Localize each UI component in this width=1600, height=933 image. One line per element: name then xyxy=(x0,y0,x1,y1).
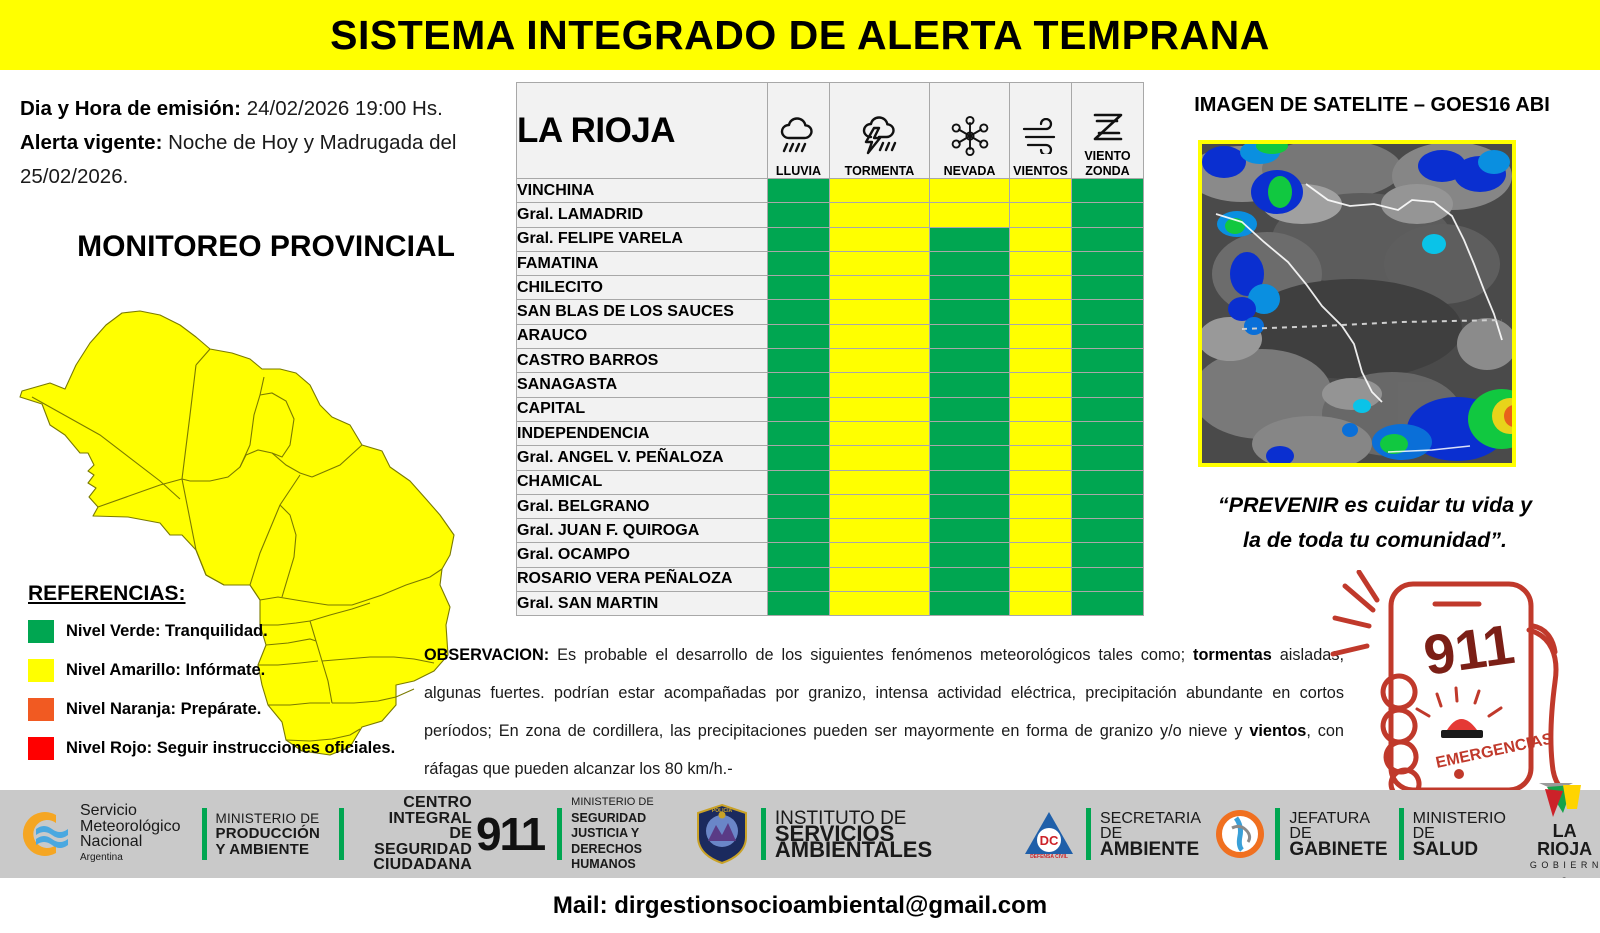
ms-line2: SALUD xyxy=(1413,842,1512,858)
alert-cell xyxy=(1010,446,1072,470)
locality-name-cell: ARAUCO xyxy=(517,324,768,348)
table-row: INDEPENDENCIA xyxy=(517,421,1144,445)
dc-badge-text: DC xyxy=(1040,833,1059,848)
alert-cell xyxy=(1010,592,1072,616)
alert-cell xyxy=(1010,227,1072,251)
prevention-quote: “PREVENIR es cuidar tu vida y la de toda… xyxy=(1150,488,1600,558)
alert-cell xyxy=(830,397,930,421)
locality-name-cell: CHAMICAL xyxy=(517,470,768,494)
page-title: SISTEMA INTEGRADO DE ALERTA TEMPRANA xyxy=(330,12,1270,59)
defensa-civil-icon: DC DEFENSA CIVIL xyxy=(1021,806,1077,862)
snowflake-icon xyxy=(930,109,1009,163)
alert-cell xyxy=(1010,494,1072,518)
table-row: SANAGASTA xyxy=(517,373,1144,397)
smn-line2: Meteorológico xyxy=(80,819,181,835)
alert-cell xyxy=(930,543,1010,567)
alert-cell xyxy=(930,276,1010,300)
locality-name-cell: SAN BLAS DE LOS SAUCES xyxy=(517,300,768,324)
logo-ministerio-seguridad-justicia: MINISTERIO DE SEGURIDAD JUSTICIA Y DEREC… xyxy=(550,799,686,869)
contact-mail: Mail: dirgestionsocioambiental@gmail.com xyxy=(553,892,1047,920)
svg-text:POLICIA: POLICIA xyxy=(712,808,733,814)
locality-name-cell: Gral. BELGRANO xyxy=(517,494,768,518)
locality-name-cell: CHILECITO xyxy=(517,276,768,300)
locality-name-cell: Gral. LAMADRID xyxy=(517,203,768,227)
alert-cell xyxy=(930,324,1010,348)
alert-validity-line2: 25/02/2026. xyxy=(20,160,510,194)
column-label-zonda: ZONDA xyxy=(1072,163,1143,178)
alert-cell xyxy=(1010,397,1072,421)
legend-swatch-amarillo xyxy=(28,659,54,682)
legend-swatch-naranja xyxy=(28,698,54,721)
cis-line1: CENTRO INTEGRAL xyxy=(353,795,472,826)
table-row: ARAUCO xyxy=(517,324,1144,348)
alert-cell xyxy=(930,227,1010,251)
divider-bar-3 xyxy=(557,808,562,860)
logo-ministerio-salud: MINISTERIO DE SALUD xyxy=(1392,799,1512,869)
logo-defensa-civil: DC DEFENSA CIVIL xyxy=(1021,799,1077,869)
legend-label-amarillo: Nivel Amarillo: Infórmate. xyxy=(66,661,265,680)
cis-line2: DE SEGURIDAD xyxy=(353,826,472,857)
alert-cell xyxy=(830,373,930,397)
ms-line1: MINISTERIO DE xyxy=(1413,811,1512,842)
alert-cell xyxy=(1010,349,1072,373)
alert-cell xyxy=(1010,251,1072,275)
table-row: ROSARIO VERA PEÑALOZA xyxy=(517,567,1144,591)
alert-cell xyxy=(1010,373,1072,397)
alert-matrix-table: LA RIOJA LLUVIA xyxy=(516,82,1144,616)
alert-cell xyxy=(930,421,1010,445)
alert-cell xyxy=(1072,179,1144,203)
alert-cell xyxy=(830,276,930,300)
alert-cell xyxy=(1010,543,1072,567)
logo-secretaria-ambiente: SECRETARIA DE AMBIENTE xyxy=(1079,799,1204,869)
locality-name-cell: CAPITAL xyxy=(517,397,768,421)
alert-cell xyxy=(930,373,1010,397)
table-row: CHILECITO xyxy=(517,276,1144,300)
alert-cell xyxy=(1010,300,1072,324)
table-row: SAN BLAS DE LOS SAUCES xyxy=(517,300,1144,324)
locality-name-cell: FAMATINA xyxy=(517,251,768,275)
emergency-911-graphic: 911 EMERGENCIAS xyxy=(1329,570,1600,800)
column-header-lluvia: LLUVIA xyxy=(768,83,830,179)
alert-cell xyxy=(768,203,830,227)
alert-cell xyxy=(768,421,830,445)
divider-bar-6 xyxy=(1275,808,1280,860)
alert-cell xyxy=(1072,300,1144,324)
locality-name-cell: Gral. JUAN F. QUIROGA xyxy=(517,519,768,543)
column-label-vientos: VIENTOS xyxy=(1010,163,1071,178)
emission-datetime-line: Dia y Hora de emisión: 24/02/2026 19:00 … xyxy=(20,92,510,126)
alert-cell xyxy=(768,470,830,494)
alert-validity-value: Noche de Hoy y Madrugada del xyxy=(168,131,456,154)
mail-bar: Mail: dirgestionsocioambiental@gmail.com xyxy=(0,878,1600,933)
emission-info: Dia y Hora de emisión: 24/02/2026 19:00 … xyxy=(20,92,510,194)
logo-gobierno-seal xyxy=(1214,799,1266,869)
alert-cell xyxy=(768,494,830,518)
quote-line-1: “PREVENIR es cuidar tu vida y xyxy=(1150,488,1600,523)
table-row: Gral. ANGEL V. PEÑALOZA xyxy=(517,446,1144,470)
divider-bar-1 xyxy=(202,808,207,860)
table-row: CHAMICAL xyxy=(517,470,1144,494)
alert-cell xyxy=(768,446,830,470)
cis-911-number: 911 xyxy=(476,811,544,857)
mpa-line2: PRODUCCIÓN xyxy=(216,826,321,842)
msj-line2: SEGURIDAD xyxy=(571,811,686,827)
alert-cell xyxy=(930,300,1010,324)
alert-poster: SISTEMA INTEGRADO DE ALERTA TEMPRANA Dia… xyxy=(0,0,1600,933)
lrg-line1: LA RIOJA xyxy=(1529,822,1600,858)
alert-cell xyxy=(768,324,830,348)
alert-cell xyxy=(768,373,830,397)
table-row: Gral. BELGRANO xyxy=(517,494,1144,518)
msj-line3: JUSTICIA Y xyxy=(571,826,686,842)
alert-cell xyxy=(930,567,1010,591)
alert-cell xyxy=(1010,567,1072,591)
alert-cell xyxy=(930,519,1010,543)
logo-servicio-meteorologico-nacional: Servicio Meteorológico Nacional Argentin… xyxy=(16,799,181,869)
table-row: Gral. OCAMPO xyxy=(517,543,1144,567)
locality-name-cell: CASTRO BARROS xyxy=(517,349,768,373)
logo-ministerio-produccion-ambiente: MINISTERIO DE PRODUCCIÓN Y AMBIENTE xyxy=(195,799,321,869)
province-header-cell: LA RIOJA xyxy=(517,83,768,179)
emergency-number-text: 911 xyxy=(1420,612,1518,687)
alert-cell xyxy=(930,470,1010,494)
alert-table-area: LA RIOJA LLUVIA xyxy=(516,82,1144,616)
table-row: VINCHINA xyxy=(517,179,1144,203)
alert-cell xyxy=(830,349,930,373)
alert-cell xyxy=(830,421,930,445)
alert-cell xyxy=(830,446,930,470)
la-rioja-flag-icon xyxy=(1533,779,1597,821)
jg-line1: JEFATURA DE xyxy=(1289,811,1387,842)
referencias-legend: REFERENCIAS: Nivel Verde: Tranquilidad. … xyxy=(28,582,428,776)
alert-cell xyxy=(1010,519,1072,543)
logo-centro-integral-seguridad: CENTRO INTEGRAL DE SEGURIDAD CIUDADANA 9… xyxy=(332,799,544,869)
alert-cell xyxy=(930,251,1010,275)
jg-line2: GABINETE xyxy=(1289,842,1387,858)
locality-name-cell: ROSARIO VERA PEÑALOZA xyxy=(517,567,768,591)
locality-name-cell: Gral. SAN MARTIN xyxy=(517,592,768,616)
table-row: FAMATINA xyxy=(517,251,1144,275)
alert-cell xyxy=(830,179,930,203)
alert-cell xyxy=(1010,324,1072,348)
alert-cell xyxy=(1072,324,1144,348)
observacion-label: OBSERVACION: xyxy=(424,646,549,664)
alert-cell xyxy=(1072,470,1144,494)
table-header-row: LA RIOJA LLUVIA xyxy=(517,83,1144,179)
sa-line2: AMBIENTE xyxy=(1100,842,1204,858)
alert-cell xyxy=(830,300,930,324)
legend-label-naranja: Nivel Naranja: Prepárate. xyxy=(66,700,261,719)
observacion-t1: Es probable el desarrollo de los siguien… xyxy=(549,646,1193,664)
alert-cell xyxy=(830,251,930,275)
alert-cell xyxy=(768,567,830,591)
alert-cell xyxy=(1010,470,1072,494)
divider-bar-2 xyxy=(339,808,344,860)
header-band: SISTEMA INTEGRADO DE ALERTA TEMPRANA xyxy=(0,0,1600,70)
table-row: CASTRO BARROS xyxy=(517,349,1144,373)
monitoreo-provincial-title: MONITOREO PROVINCIAL xyxy=(36,230,496,264)
alert-cell xyxy=(768,179,830,203)
alert-cell xyxy=(1010,203,1072,227)
alert-cell xyxy=(768,592,830,616)
gobierno-seal-icon xyxy=(1214,808,1266,860)
legend-label-verde: Nivel Verde: Tranquilidad. xyxy=(66,622,268,641)
legend-label-rojo: Nivel Rojo: Seguir instrucciones oficial… xyxy=(66,739,395,758)
alert-cell xyxy=(768,397,830,421)
quote-line-2: la de toda tu comunidad”. xyxy=(1150,523,1600,558)
smn-line3: Nacional xyxy=(80,834,181,850)
mpa-line3: Y AMBIENTE xyxy=(216,842,321,858)
alert-cell xyxy=(1072,446,1144,470)
column-label-lluvia: LLUVIA xyxy=(768,163,829,178)
alert-cell xyxy=(930,179,1010,203)
divider-bar-4 xyxy=(761,808,766,860)
divider-bar-7 xyxy=(1399,808,1404,860)
locality-name-cell: Gral. ANGEL V. PEÑALOZA xyxy=(517,446,768,470)
alert-cell xyxy=(830,543,930,567)
alert-cell xyxy=(1072,519,1144,543)
column-header-viento-zonda: VIENTO ZONDA xyxy=(1072,83,1144,179)
alert-cell xyxy=(830,470,930,494)
legend-item-rojo: Nivel Rojo: Seguir instrucciones oficial… xyxy=(28,737,428,760)
alert-cell xyxy=(1072,373,1144,397)
alert-cell xyxy=(1072,251,1144,275)
alert-cell xyxy=(1072,227,1144,251)
alert-cell xyxy=(1072,543,1144,567)
msj-line4: DERECHOS HUMANOS xyxy=(571,842,686,873)
column-label-tormenta: TORMENTA xyxy=(830,163,929,178)
smn-logo-icon xyxy=(16,805,74,863)
locality-name-cell: SANAGASTA xyxy=(517,373,768,397)
satellite-title: IMAGEN DE SATELITE – GOES16 ABI xyxy=(1144,94,1600,117)
smn-line4: Argentina xyxy=(80,850,181,866)
alert-table-body: VINCHINAGral. LAMADRIDGral. FELIPE VAREL… xyxy=(517,179,1144,616)
alert-cell xyxy=(930,349,1010,373)
logo-instituto-servicios-ambientales: INSTITUTO DE SERVICIOS AMBIENTALES xyxy=(754,799,1011,869)
alert-cell xyxy=(768,300,830,324)
msj-line1: MINISTERIO DE xyxy=(571,795,686,811)
alert-cell xyxy=(768,543,830,567)
alert-cell xyxy=(768,349,830,373)
table-row: Gral. JUAN F. QUIROGA xyxy=(517,519,1144,543)
logo-policia-la-rioja: POLICIA xyxy=(694,799,750,869)
alert-cell xyxy=(830,324,930,348)
alert-cell xyxy=(930,494,1010,518)
legend-item-amarillo: Nivel Amarillo: Infórmate. xyxy=(28,659,428,682)
satellite-image xyxy=(1198,140,1516,467)
footer-logo-band: Servicio Meteorológico Nacional Argentin… xyxy=(0,790,1600,878)
locality-name-cell: INDEPENDENCIA xyxy=(517,421,768,445)
alert-cell xyxy=(930,203,1010,227)
divider-bar-5 xyxy=(1086,808,1091,860)
isa-line2: SERVICIOS AMBIENTALES xyxy=(775,826,1011,857)
legend-swatch-rojo xyxy=(28,737,54,760)
column-label-viento: VIENTO xyxy=(1072,148,1143,163)
sa-line1: SECRETARIA DE xyxy=(1100,811,1204,842)
logo-la-rioja-gobierno: LA RIOJA G O B I E R N O xyxy=(1529,799,1600,869)
table-row: Gral. LAMADRID xyxy=(517,203,1144,227)
alert-cell xyxy=(1072,421,1144,445)
referencias-title: REFERENCIAS: xyxy=(28,582,186,606)
column-label-nevada: NEVADA xyxy=(930,163,1009,178)
alert-validity-label: Alerta vigente: xyxy=(20,131,162,154)
alert-cell xyxy=(1072,349,1144,373)
alert-cell xyxy=(768,227,830,251)
alert-cell xyxy=(830,592,930,616)
smn-line1: Servicio xyxy=(80,803,181,819)
alert-cell xyxy=(1072,592,1144,616)
dc-sub1: DEFENSA CIVIL xyxy=(1030,854,1068,860)
alert-cell xyxy=(1072,567,1144,591)
locality-name-cell: Gral. OCAMPO xyxy=(517,543,768,567)
wind-icon xyxy=(1010,109,1071,163)
alert-cell xyxy=(830,567,930,591)
legend-item-verde: Nivel Verde: Tranquilidad. xyxy=(28,620,428,643)
alert-cell xyxy=(830,203,930,227)
alert-cell xyxy=(1072,494,1144,518)
alert-cell xyxy=(1010,179,1072,203)
zonda-wind-icon xyxy=(1072,108,1143,148)
alert-cell xyxy=(1072,397,1144,421)
right-column: IMAGEN DE SATELITE – GOES16 ABI xyxy=(1144,70,1600,790)
alert-cell xyxy=(1010,276,1072,300)
alert-cell xyxy=(930,592,1010,616)
alert-cell xyxy=(830,519,930,543)
locality-name-cell: Gral. FELIPE VARELA xyxy=(517,227,768,251)
alert-cell xyxy=(930,446,1010,470)
column-header-tormenta: TORMENTA xyxy=(830,83,930,179)
legend-swatch-verde xyxy=(28,620,54,643)
cis-line3: CIUDADANA xyxy=(353,857,472,873)
logo-jefatura-gabinete: JEFATURA DE GABINETE xyxy=(1268,799,1387,869)
alert-cell xyxy=(768,251,830,275)
alert-cell xyxy=(1072,276,1144,300)
alert-cell xyxy=(830,494,930,518)
thunderstorm-icon xyxy=(830,109,929,163)
alert-cell xyxy=(768,519,830,543)
column-header-nevada: NEVADA xyxy=(930,83,1010,179)
police-shield-icon: POLICIA xyxy=(694,803,750,865)
mpa-line1: MINISTERIO DE xyxy=(216,811,321,827)
legend-item-naranja: Nivel Naranja: Prepárate. xyxy=(28,698,428,721)
table-row: CAPITAL xyxy=(517,397,1144,421)
locality-name-cell: VINCHINA xyxy=(517,179,768,203)
rain-icon xyxy=(768,109,829,163)
table-row: Gral. SAN MARTIN xyxy=(517,592,1144,616)
alert-cell xyxy=(1010,421,1072,445)
emission-datetime-label: Dia y Hora de emisión: xyxy=(20,97,241,120)
alert-cell xyxy=(768,276,830,300)
emission-datetime-value: 24/02/2026 19:00 Hs. xyxy=(247,97,443,120)
alert-validity-line: Alerta vigente: Noche de Hoy y Madrugada… xyxy=(20,126,510,160)
column-header-vientos: VIENTOS xyxy=(1010,83,1072,179)
alert-cell xyxy=(830,227,930,251)
alert-cell xyxy=(1072,203,1144,227)
table-row: Gral. FELIPE VARELA xyxy=(517,227,1144,251)
province-name: LA RIOJA xyxy=(517,111,675,150)
alert-cell xyxy=(930,397,1010,421)
